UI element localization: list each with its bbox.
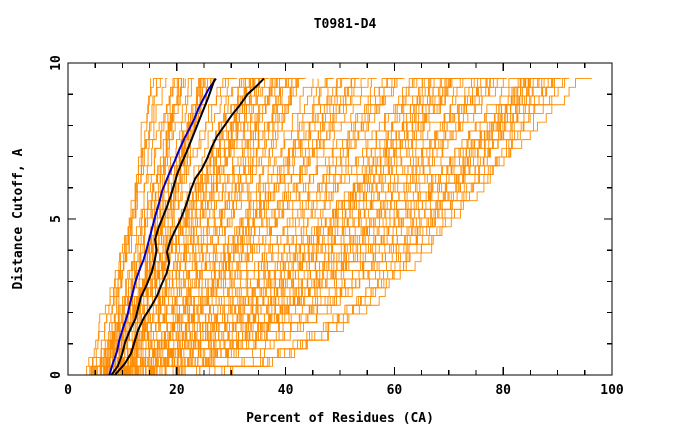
x-axis-tick-label: 100: [600, 383, 624, 398]
x-axis-tick-label: 20: [169, 383, 185, 398]
x-axis-title: Percent of Residues (CA): [246, 411, 434, 426]
x-axis-tick-label: 0: [64, 383, 72, 398]
x-axis-tick-label: 80: [495, 383, 511, 398]
y-axis-tick-label: 10: [49, 55, 64, 71]
chart-container: T0981-D4 Percent of Residues (CA) Distan…: [0, 0, 680, 440]
y-axis-tick-label: 0: [49, 371, 64, 379]
distance-cutoff-plot: T0981-D4 Percent of Residues (CA) Distan…: [0, 0, 680, 440]
x-axis-tick-label: 60: [387, 383, 403, 398]
y-axis-tick-label: 5: [49, 215, 64, 223]
x-axis-tick-label: 40: [278, 383, 294, 398]
y-axis-title: Distance Cutoff, A: [11, 148, 26, 289]
page-title: T0981-D4: [314, 17, 377, 32]
series-layer: [87, 79, 592, 375]
